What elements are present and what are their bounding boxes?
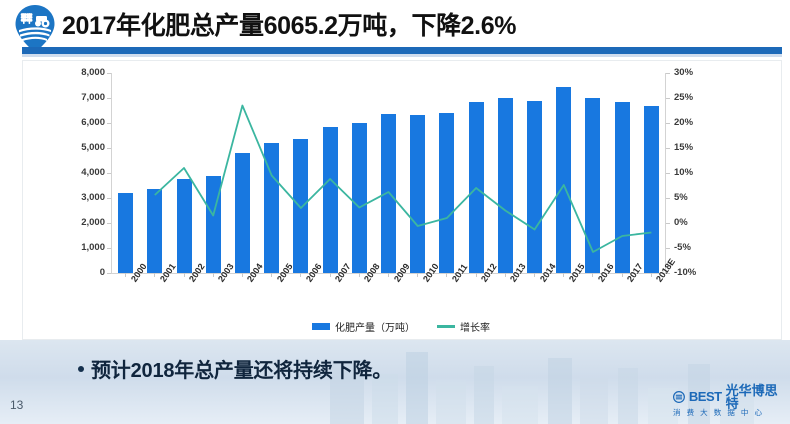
x-tick-label-2001: 2001 (158, 262, 178, 284)
x-tick-label-2018E: 2018E (654, 257, 677, 284)
x-tick (505, 273, 506, 277)
y-tick-label-left: 4,000 (63, 167, 105, 178)
x-tick (417, 273, 418, 277)
legend-swatch-bar-icon (312, 323, 330, 330)
y-tick-label-left: 3,000 (63, 192, 105, 203)
x-tick (300, 273, 301, 277)
x-tick-label-2013: 2013 (508, 262, 528, 284)
brand-logo: BEST 光华博思特 消 费 大 数 据 中 心 (673, 388, 781, 418)
x-tick (622, 273, 623, 277)
legend-item-bar: 化肥产量（万吨） (312, 319, 415, 334)
x-tick (154, 273, 155, 277)
bullet-dot-icon (78, 366, 84, 372)
chart-legend: 化肥产量（万吨） 增长率 (111, 319, 691, 334)
chart-container: 01,0002,0003,0004,0005,0006,0007,0008,00… (22, 60, 782, 340)
x-tick-label-2007: 2007 (333, 262, 353, 284)
x-tick-label-2004: 2004 (245, 262, 265, 284)
footer-band: 预计2018年总产量还将持续下降。 (0, 340, 790, 424)
x-tick (184, 273, 185, 277)
page-title: 2017年化肥总产量6065.2万吨，下降2.6% (62, 6, 772, 46)
x-tick (125, 273, 126, 277)
header-divider-shadow (22, 54, 782, 57)
y-tick-label-left: 5,000 (63, 142, 105, 153)
x-tick-label-2011: 2011 (450, 262, 469, 284)
x-tick (534, 273, 535, 277)
brand-emblem-icon (673, 390, 685, 404)
x-tick-label-2016: 2016 (596, 262, 616, 284)
x-axis-labels: 2000200120022003200420052006200720082009… (111, 73, 691, 333)
legend-swatch-line-icon (437, 325, 455, 328)
legend-item-line: 增长率 (437, 319, 490, 334)
x-tick (388, 273, 389, 277)
legend-label-line: 增长率 (460, 319, 490, 334)
chart-plot-area: 01,0002,0003,0004,0005,0006,0007,0008,00… (111, 73, 691, 333)
x-tick-label-2009: 2009 (392, 262, 412, 284)
x-tick-label-2017: 2017 (625, 262, 645, 284)
bullet-text: 预计2018年总产量还将持续下降。 (91, 354, 392, 383)
x-tick (563, 273, 564, 277)
x-tick (651, 273, 652, 277)
x-tick (476, 273, 477, 277)
x-tick-label-2014: 2014 (538, 262, 558, 284)
header-divider (22, 47, 782, 54)
x-tick-label-2006: 2006 (304, 262, 324, 284)
brand-logo-main: BEST 光华博思特 (673, 388, 781, 405)
x-tick (271, 273, 272, 277)
slide: 2017年化肥总产量6065.2万吨，下降2.6% 01,0002,0003,0… (0, 0, 790, 424)
summary-bullet: 预计2018年总产量还将持续下降。 (78, 354, 392, 383)
x-tick (242, 273, 243, 277)
y-tick-label-left: 8,000 (63, 67, 105, 78)
x-tick-label-2002: 2002 (187, 262, 207, 284)
page-number: 13 (10, 398, 23, 412)
legend-label-bar: 化肥产量（万吨） (335, 319, 415, 334)
x-tick (592, 273, 593, 277)
x-tick-label-2005: 2005 (275, 262, 295, 284)
x-tick-label-2008: 2008 (362, 262, 382, 284)
x-tick-label-2015: 2015 (567, 262, 587, 284)
y-tick-label-left: 0 (63, 267, 105, 278)
slide-header: 2017年化肥总产量6065.2万吨，下降2.6% (0, 0, 790, 58)
x-tick-label-2000: 2000 (129, 262, 149, 284)
x-tick (330, 273, 331, 277)
y-tick-label-left: 7,000 (63, 92, 105, 103)
x-tick (446, 273, 447, 277)
brand-mark: BEST (689, 390, 722, 403)
y-tick-label-left: 1,000 (63, 242, 105, 253)
y-tick-label-left: 6,000 (63, 117, 105, 128)
brand-name: 光华博思特 (726, 384, 781, 410)
x-tick-label-2012: 2012 (479, 262, 499, 284)
x-tick (213, 273, 214, 277)
x-tick-label-2010: 2010 (421, 262, 441, 284)
x-tick-label-2003: 2003 (216, 262, 236, 284)
x-tick (359, 273, 360, 277)
y-tick-label-left: 2,000 (63, 217, 105, 228)
